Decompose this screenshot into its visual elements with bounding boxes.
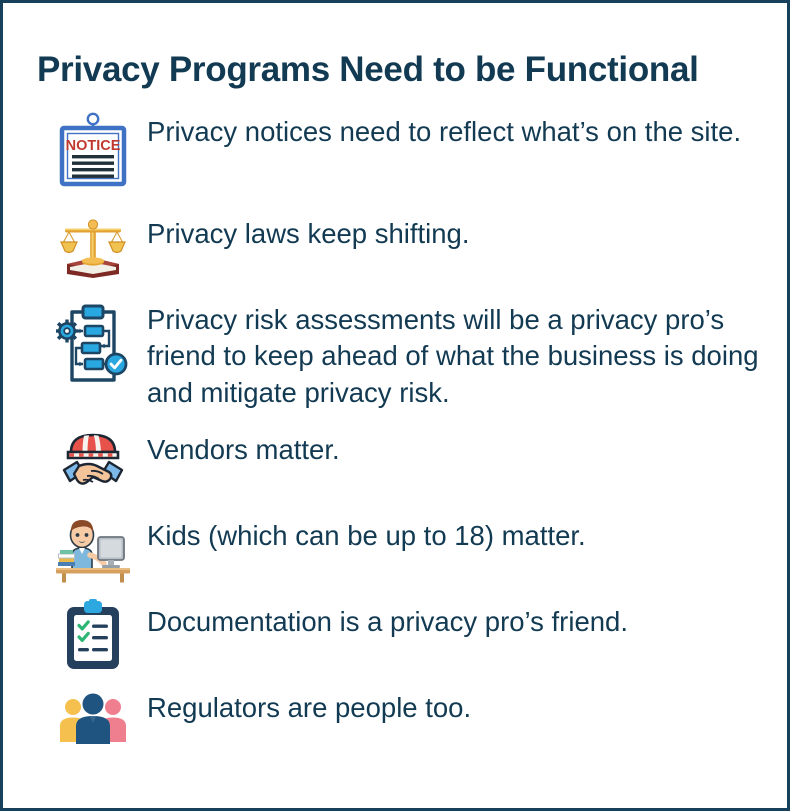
notice-sign-icon: NOTICE [45, 108, 141, 198]
checklist-clipboard-icon [45, 598, 141, 672]
list-item: Privacy laws keep shifting. [3, 210, 787, 284]
list-item-label: Privacy notices need to reflect what’s o… [141, 108, 777, 151]
list-item: NOTICE Privacy notices need to reflect w… [3, 108, 787, 198]
bullet-list: NOTICE Privacy notices need to reflect w… [3, 90, 787, 758]
list-item-label: Documentation is a privacy pro’s friend. [141, 598, 777, 641]
slide-container: Privacy Programs Need to be Functional N… [0, 0, 790, 811]
list-item: Regulators are people too. [3, 684, 787, 758]
page-title: Privacy Programs Need to be Functional [3, 3, 787, 90]
list-item-label: Regulators are people too. [141, 684, 777, 727]
list-item-label: Vendors matter. [141, 426, 777, 469]
list-item: Privacy risk assessments will be a priva… [3, 296, 787, 412]
list-item: Vendors matter. [3, 426, 787, 500]
process-flowchart-clipboard-icon [45, 296, 141, 412]
scales-of-justice-icon [45, 210, 141, 284]
child-at-computer-desk-icon [45, 512, 141, 586]
notice-sign-label: NOTICE [66, 138, 121, 154]
list-item-label: Privacy risk assessments will be a priva… [141, 296, 777, 412]
list-item-label: Kids (which can be up to 18) matter. [141, 512, 777, 555]
list-item: Kids (which can be up to 18) matter. [3, 512, 787, 586]
list-item-label: Privacy laws keep shifting. [141, 210, 777, 253]
three-people-group-icon [45, 684, 141, 758]
handshake-market-awning-icon [45, 426, 141, 500]
list-item: Documentation is a privacy pro’s friend. [3, 598, 787, 672]
